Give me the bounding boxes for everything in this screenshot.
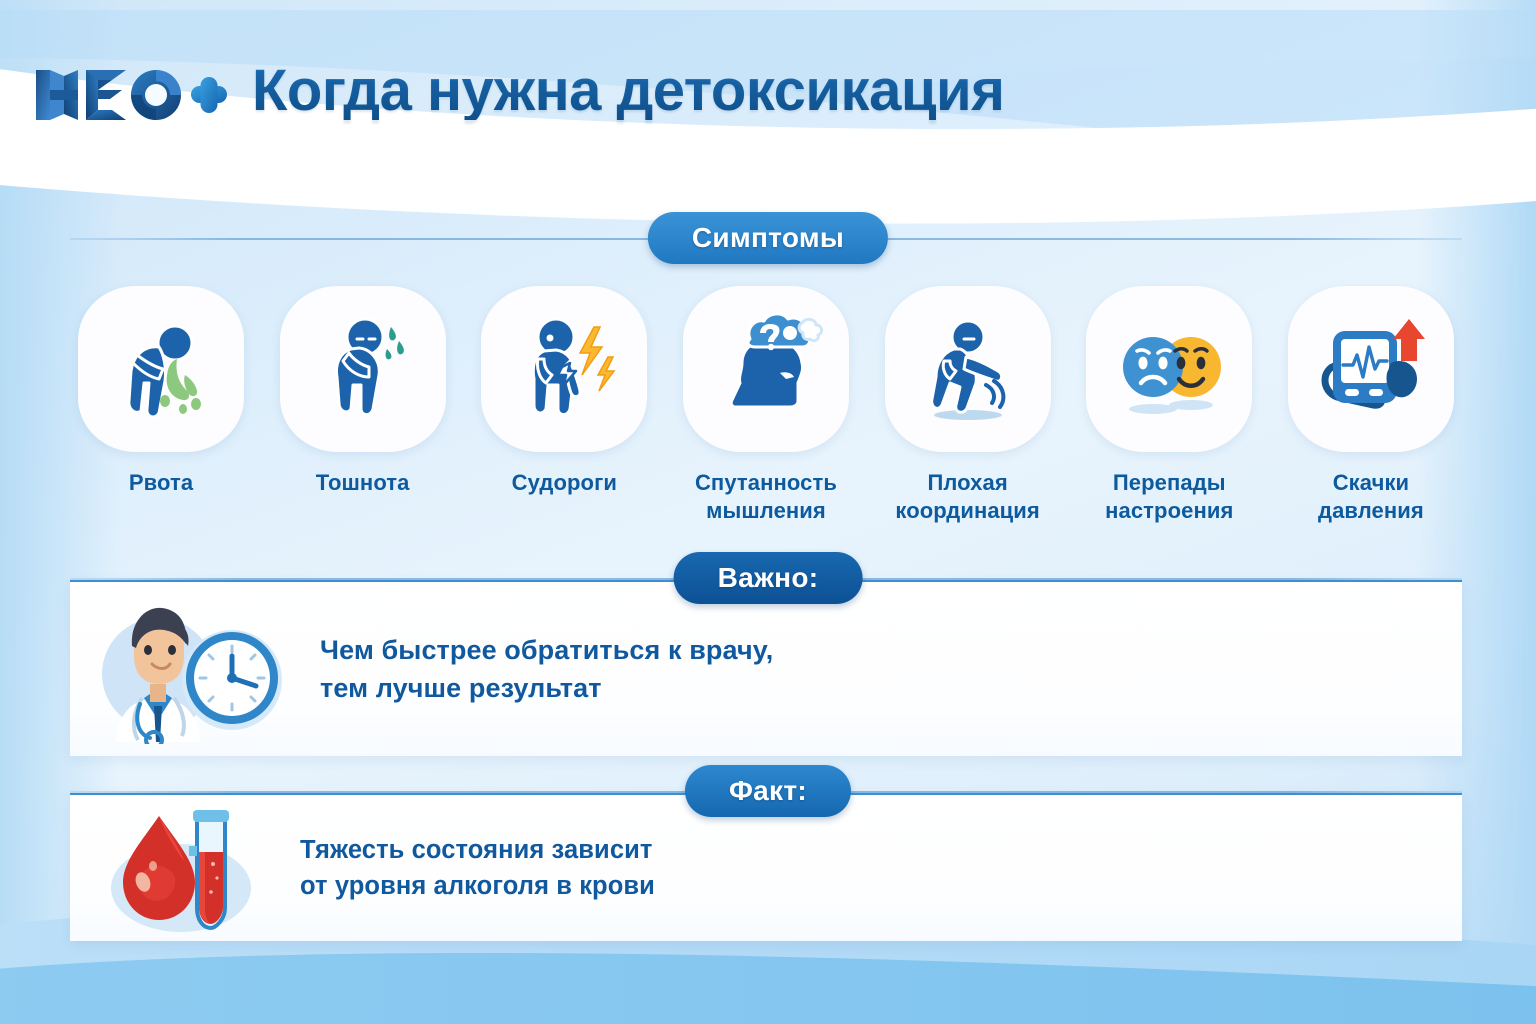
symptom-tile <box>1086 286 1252 452</box>
sweat-drops <box>385 327 403 359</box>
symptom-item-mood-swings[interactable]: Перепадынастроения <box>1078 286 1260 525</box>
symptom-item-cramps[interactable]: Судороги <box>473 286 655 525</box>
symptom-tile <box>683 286 849 452</box>
fact-text: Тяжесть состояния зависитот уровня алког… <box>300 832 655 904</box>
logo-letter-e <box>86 70 126 120</box>
bulb <box>1386 361 1417 397</box>
symptom-item-blood-pressure[interactable]: Скачкидавления <box>1280 286 1462 525</box>
doctor-with-clock-illustration <box>70 582 320 756</box>
cramps-icon <box>500 305 628 433</box>
badge-fact: Факт: <box>685 765 851 817</box>
symptom-tile <box>885 286 1051 452</box>
head-profile <box>731 339 802 407</box>
symptom-label: Тошнота <box>316 469 410 497</box>
sad-face <box>1123 337 1183 397</box>
symptom-label: Плохаякоординация <box>895 469 1040 525</box>
clock-illustration <box>186 632 278 724</box>
symptom-label: Рвота <box>129 469 193 497</box>
vomiting-icon <box>97 305 225 433</box>
brand-logo[interactable] <box>34 62 230 128</box>
motion-lines <box>986 381 1003 407</box>
symptom-item-vomiting[interactable]: Рвота <box>70 286 252 525</box>
symptom-label: Скачкидавления <box>1318 469 1424 525</box>
symptom-tile <box>78 286 244 452</box>
symptoms-row: Рвота Тошнота <box>70 286 1462 525</box>
logo-plus-icon <box>191 77 227 113</box>
blood-pressure-icon <box>1307 305 1435 433</box>
logo-letter-h <box>36 70 78 120</box>
symptom-item-poor-coordination[interactable]: Плохаякоординация <box>877 286 1059 525</box>
badge-symptoms: Симптомы <box>648 212 888 264</box>
mood-swings-icon <box>1105 305 1233 433</box>
lightning-bolts <box>580 327 614 391</box>
page-title: Когда нужна детоксикация <box>252 62 1004 120</box>
blood-drop-icon <box>123 816 195 920</box>
badge-important: Важно: <box>674 552 863 604</box>
poor-coordination-icon <box>904 305 1032 433</box>
symptom-tile <box>481 286 647 452</box>
blood-drop-test-tube-illustration <box>70 795 300 941</box>
symptom-label: Судороги <box>512 469 617 497</box>
logo-letter-o <box>131 70 181 120</box>
symptom-item-confusion[interactable]: Спутанностьмышления <box>675 286 857 525</box>
symptom-label: Перепадынастроения <box>1105 469 1233 525</box>
symptom-item-nausea[interactable]: Тошнота <box>272 286 454 525</box>
up-arrow-icon <box>1393 319 1425 361</box>
symptom-tile <box>280 286 446 452</box>
page-header: Когда нужна детоксикация <box>0 0 1536 190</box>
important-text: Чем быстрее обратиться к врачу,тем лучше… <box>320 631 773 708</box>
symptom-label: Спутанностьмышления <box>695 469 837 525</box>
important-card: Чем быстрее обратиться к врачу,тем лучше… <box>70 580 1462 756</box>
symptom-tile <box>1288 286 1454 452</box>
nausea-icon <box>299 305 427 433</box>
confusion-icon <box>702 305 830 433</box>
